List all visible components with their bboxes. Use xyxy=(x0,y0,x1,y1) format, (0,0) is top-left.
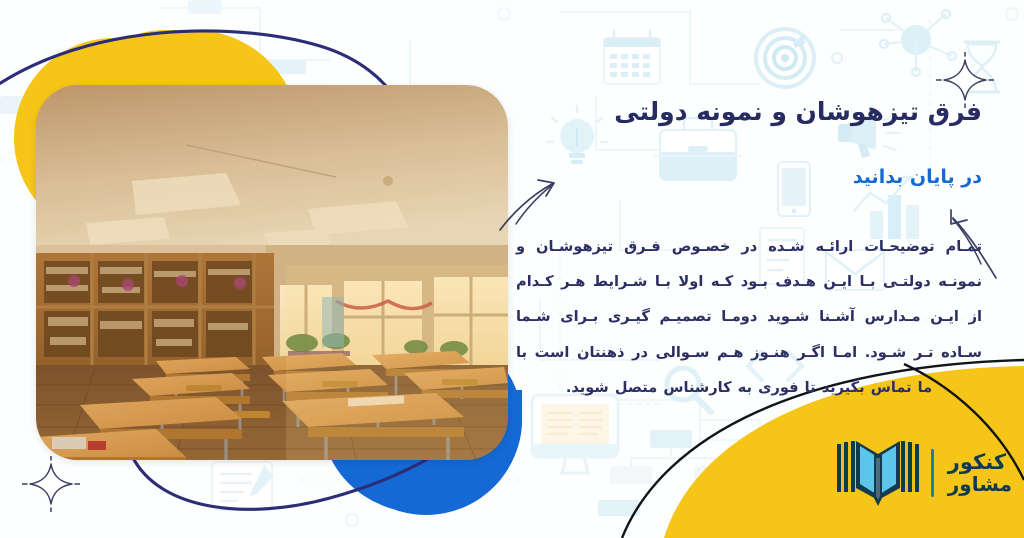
open-book-icon xyxy=(835,436,921,510)
logo-divider xyxy=(931,449,934,497)
logo-word-top: کنکور xyxy=(948,451,1006,473)
pencil-note-icon xyxy=(212,462,274,510)
logo-word-bottom: مشاور xyxy=(948,474,1012,495)
classroom-photo xyxy=(36,85,508,460)
page-title: فرق تیزهوشان و نمونه دولتی xyxy=(462,95,982,129)
sparkle-star-icon-top xyxy=(936,52,994,108)
curved-arrow-icon-left xyxy=(498,176,562,234)
logo-wordmark: کنکور مشاور xyxy=(944,451,1012,494)
curved-arrow-icon-right xyxy=(948,204,1002,282)
brand-logo[interactable]: کنکور مشاور xyxy=(835,436,1012,510)
body-paragraph: تمـام توضیحـات ارائـه شـده در خصـوص فـرق… xyxy=(516,229,982,406)
sparkle-star-icon-bottom xyxy=(22,456,80,512)
infographic-canvas: فرق تیزهوشان و نمونه دولتی در پایان بدان… xyxy=(0,0,1024,538)
